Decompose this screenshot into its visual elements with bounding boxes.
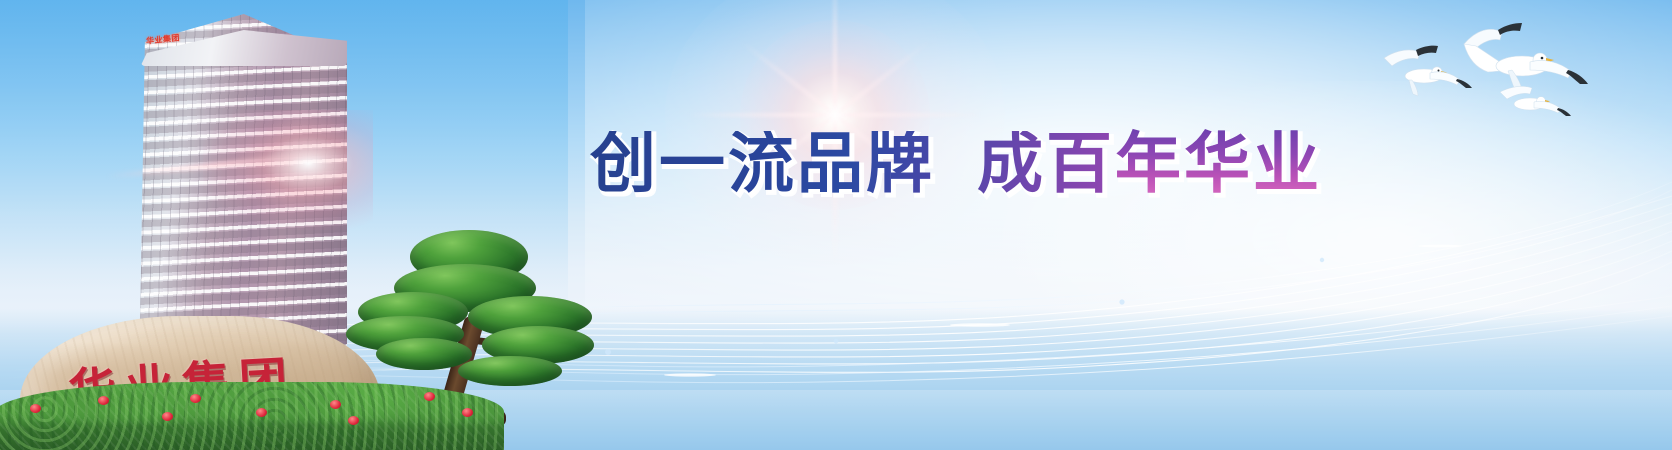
hedge-flower <box>462 408 473 417</box>
hedge-flower <box>330 400 341 409</box>
hedge-flower <box>256 408 267 417</box>
seagull-large <box>1464 23 1588 92</box>
hedge <box>0 382 504 450</box>
pine-canopy-pad-mid-left <box>376 338 472 370</box>
hedge-flower <box>98 396 109 405</box>
hedge-flower <box>190 394 201 403</box>
slogan-gradient-layer: 创一流品牌成百年华业 <box>590 131 1322 197</box>
slogan-part-two-head: 成百 <box>977 125 1115 202</box>
seagull-small <box>1384 46 1472 96</box>
hedge-flower <box>348 416 359 425</box>
slogan-part-one: 创一流品牌 <box>590 125 935 202</box>
corporate-banner: 华业集团 华业集团 创一流品 <box>0 0 1672 450</box>
slogan: 创一流品牌成百年华业 创一流品牌成百年华业 <box>590 131 1322 197</box>
seagulls <box>1372 0 1672 140</box>
pine-canopy-pad-low-right <box>458 356 562 386</box>
hedge-flower <box>30 404 41 413</box>
slogan-part-two-tail: 年华业 <box>1115 125 1322 202</box>
hedge-flower <box>424 392 435 401</box>
seagull-lower <box>1500 86 1571 116</box>
hedge-flower <box>162 412 173 421</box>
